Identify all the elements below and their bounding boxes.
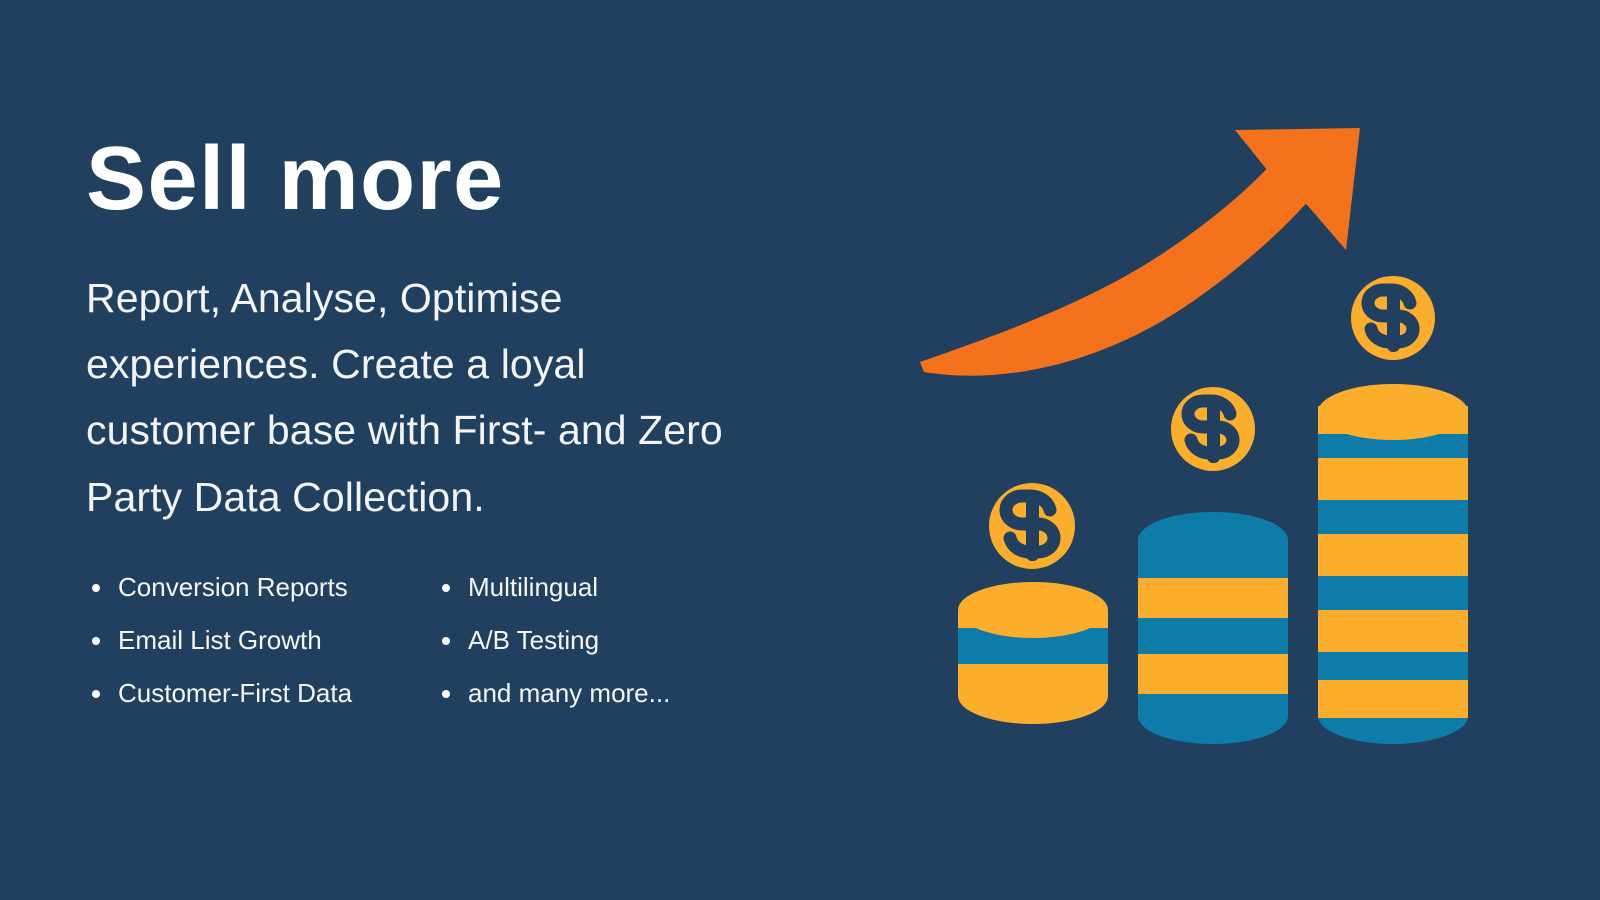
list-item: Email List Growth [86, 627, 436, 653]
description-paragraph: Report, Analyse, Optimise experiences. C… [86, 265, 766, 531]
list-item: Multilingual [436, 574, 756, 600]
list-item: Conversion Reports [86, 574, 436, 600]
page-title: Sell more [86, 132, 786, 227]
dollar-coin-large [1351, 276, 1435, 360]
feature-column-two: Multilingual A/B Testing and many more..… [436, 574, 756, 706]
feature-list-one: Conversion Reports Email List Growth Cus… [86, 574, 436, 706]
list-item: and many more... [436, 680, 756, 706]
dollar-coin-medium [1171, 387, 1255, 471]
feature-list-two: Multilingual A/B Testing and many more..… [436, 574, 756, 706]
coin-stack-medium [1138, 512, 1288, 744]
coin-stack-short [958, 582, 1108, 724]
text-content-block: Sell more Report, Analyse, Optimise expe… [86, 132, 786, 706]
dollar-coin-small [989, 483, 1075, 569]
feature-column-one: Conversion Reports Email List Growth Cus… [86, 574, 436, 706]
growth-coins-illustration [880, 120, 1500, 760]
feature-bullet-columns: Conversion Reports Email List Growth Cus… [86, 574, 786, 706]
list-item: Customer-First Data [86, 680, 436, 706]
growth-arrow-icon [920, 128, 1360, 376]
coin-stack-tall [1318, 384, 1468, 744]
slide-root: Sell more Report, Analyse, Optimise expe… [0, 0, 1600, 900]
list-item: A/B Testing [436, 627, 756, 653]
